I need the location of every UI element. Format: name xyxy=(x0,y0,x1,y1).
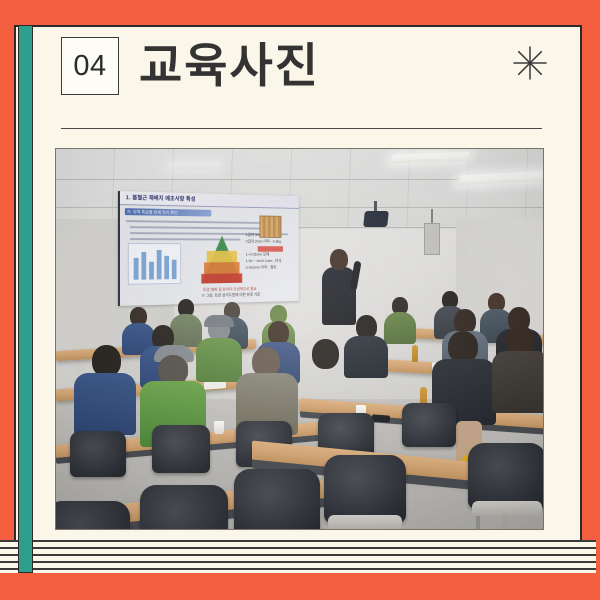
chair-seat xyxy=(328,515,402,530)
slide-bar xyxy=(172,260,177,279)
slide-bar xyxy=(157,250,162,279)
chair-backrest xyxy=(468,443,544,509)
chair-seat xyxy=(472,501,542,516)
stripe-line xyxy=(0,568,596,570)
stripe-line xyxy=(0,547,596,549)
chair-backrest xyxy=(140,485,228,530)
sparkle-asterisk-icon xyxy=(512,45,548,81)
stripe-line xyxy=(0,554,596,556)
presenter-head xyxy=(330,249,348,270)
stripe-line xyxy=(0,561,596,563)
drink-bottle xyxy=(412,345,418,362)
slide-title: 1. 봄철근 재배지 예초사항 특성 xyxy=(126,193,196,203)
attendee-body xyxy=(74,373,136,435)
title-divider xyxy=(61,128,542,129)
paper-cup xyxy=(214,421,224,434)
poster-header: 04 교육사진 xyxy=(61,37,556,132)
slide-subtitle: 가. 지역 특성별 방제 적기 확인 xyxy=(127,209,178,216)
attendee-body xyxy=(492,351,544,413)
slide-legend-item: 1~0.05mm 모래 xyxy=(246,252,270,258)
wall-control-panel xyxy=(424,223,440,255)
projection-screen: 1. 봄철근 재배지 예초사항 특성 가. 지역 특성별 방제 적기 확인 xyxy=(118,191,299,306)
chair-post xyxy=(360,529,366,530)
bottom-stripes xyxy=(0,540,596,573)
chair-backrest xyxy=(324,455,406,523)
chair-backrest xyxy=(152,425,210,473)
chair-backrest xyxy=(70,431,126,477)
section-number: 04 xyxy=(73,52,106,81)
slide-legend-item: 0.002mm 이하 - 점토 xyxy=(246,265,277,271)
chair-backrest xyxy=(55,501,130,530)
education-photo: 1. 봄철근 재배지 예초사항 특성 가. 지역 특성별 방제 적기 확인 xyxy=(55,148,544,530)
page-title: 교육사진 xyxy=(139,35,320,97)
slide-bar xyxy=(141,252,146,280)
slide-legend-item: 1.00 ~ 1m/0.2mm - 미사 xyxy=(246,258,282,264)
attendee-body xyxy=(196,338,242,382)
slide-chart-note: ※ 그림. 토양 삼각도법에 의한 분류 기준 xyxy=(201,292,260,299)
ceiling-light xyxy=(166,163,219,169)
slide-sample-photo xyxy=(259,215,281,237)
chair-backrest xyxy=(402,403,456,447)
attendee-cap xyxy=(204,315,234,327)
chair-backrest xyxy=(234,469,320,530)
slide-legend-item: 2급지 2mm 이하 - 0.8kg xyxy=(246,239,281,245)
slide-red-graphic xyxy=(258,246,283,252)
slide-bar xyxy=(134,258,139,280)
projector xyxy=(363,211,389,227)
poster-root: 04 교육사진 xyxy=(0,0,600,600)
slide-bar xyxy=(149,262,154,280)
teal-accent-bar xyxy=(18,25,33,573)
slide-bar-chart xyxy=(128,243,181,285)
attendee-body xyxy=(170,314,202,347)
slide-bar xyxy=(164,256,169,279)
smartphone xyxy=(372,414,390,422)
slide-triangle-chart xyxy=(201,236,242,284)
slide-body-line xyxy=(126,220,263,224)
section-number-box: 04 xyxy=(61,37,119,95)
attendee-body xyxy=(384,312,416,344)
stripe-line xyxy=(0,540,596,542)
chair-post xyxy=(502,515,508,530)
